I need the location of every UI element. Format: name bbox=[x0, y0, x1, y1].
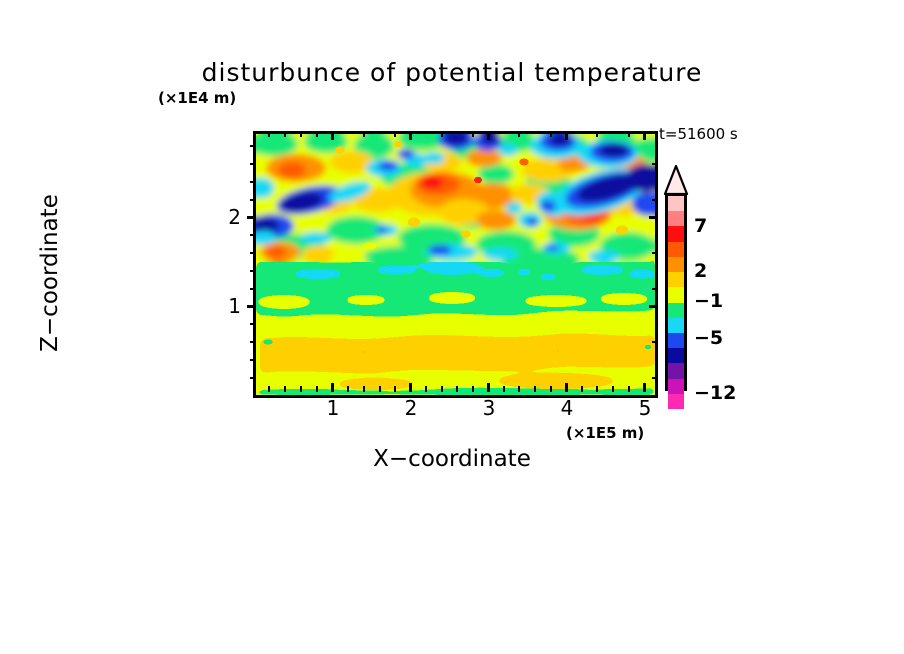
colorbar-band bbox=[668, 318, 684, 333]
y-axis-label: Z−coordinate bbox=[37, 123, 63, 423]
y-tick-minor bbox=[250, 270, 256, 272]
y-tick-minor bbox=[250, 288, 256, 290]
y-tick-minor bbox=[250, 145, 256, 147]
colorbar-label: 2 bbox=[694, 260, 707, 282]
x-tick-minor bbox=[347, 386, 349, 392]
contour-plot-frame bbox=[253, 131, 658, 398]
x-tick-major-top bbox=[331, 131, 334, 140]
y-tick-minor bbox=[250, 163, 256, 165]
colorbar-band bbox=[668, 226, 684, 241]
x-tick-label: 4 bbox=[547, 396, 587, 420]
y-tick-label: 1 bbox=[201, 294, 241, 318]
colorbar-top-arrow bbox=[663, 165, 689, 195]
x-tick-minor bbox=[394, 386, 396, 392]
x-tick-minor-top bbox=[596, 131, 598, 137]
x-axis-label: X−coordinate bbox=[0, 446, 904, 472]
x-tick-minor-top bbox=[628, 131, 630, 137]
x-tick-minor-top bbox=[284, 131, 286, 137]
contour-field bbox=[256, 134, 655, 395]
colorbar-label: −12 bbox=[694, 382, 736, 404]
colorbar bbox=[665, 193, 687, 391]
y-tick-minor bbox=[250, 252, 256, 254]
x-tick-minor bbox=[596, 386, 598, 392]
x-tick-minor-top bbox=[316, 131, 318, 137]
x-tick-minor bbox=[268, 386, 270, 392]
x-tick-minor-top bbox=[300, 131, 302, 137]
x-tick-minor bbox=[472, 386, 474, 392]
y-tick-major bbox=[247, 216, 256, 219]
page-title: disturbunce of potential temperature bbox=[0, 58, 904, 87]
x-tick-minor bbox=[612, 386, 614, 392]
x-axis-unit-label: (×1E5 m) bbox=[566, 424, 644, 442]
colorbar-label: −5 bbox=[694, 327, 723, 349]
y-tick-minor bbox=[250, 341, 256, 343]
x-tick-major bbox=[487, 383, 490, 392]
colorbar-band bbox=[668, 287, 684, 302]
x-tick-major bbox=[331, 383, 334, 392]
y-tick-minor-right bbox=[652, 163, 658, 165]
colorbar-band bbox=[668, 303, 684, 318]
x-tick-minor bbox=[441, 386, 443, 392]
y-tick-minor-right bbox=[652, 377, 658, 379]
y-tick-minor bbox=[250, 199, 256, 201]
x-tick-major bbox=[409, 383, 412, 392]
colorbar-band bbox=[668, 242, 684, 257]
x-tick-minor-top bbox=[472, 131, 474, 137]
x-tick-minor bbox=[518, 386, 520, 392]
x-tick-minor-top bbox=[394, 131, 396, 137]
x-tick-minor bbox=[425, 386, 427, 392]
x-tick-minor bbox=[581, 386, 583, 392]
y-tick-major bbox=[247, 305, 256, 308]
x-tick-major-top bbox=[643, 131, 646, 140]
y-tick-minor-right bbox=[652, 252, 658, 254]
x-tick-minor bbox=[316, 386, 318, 392]
x-tick-minor-top bbox=[518, 131, 520, 137]
x-tick-label: 1 bbox=[313, 396, 353, 420]
x-tick-major-top bbox=[409, 131, 412, 140]
colorbar-band bbox=[668, 363, 684, 378]
time-annotation: t=51600 s bbox=[659, 125, 738, 143]
y-tick-minor bbox=[250, 181, 256, 183]
x-tick-minor-top bbox=[268, 131, 270, 137]
x-tick-minor-top bbox=[550, 131, 552, 137]
x-tick-major-top bbox=[565, 131, 568, 140]
colorbar-label: 7 bbox=[694, 215, 707, 237]
y-tick-minor-right bbox=[652, 341, 658, 343]
x-tick-major-top bbox=[487, 131, 490, 140]
x-tick-minor bbox=[363, 386, 365, 392]
x-tick-minor bbox=[379, 386, 381, 392]
x-tick-major bbox=[643, 383, 646, 392]
colorbar-label: −1 bbox=[694, 290, 723, 312]
x-tick-minor-top bbox=[363, 131, 365, 137]
x-tick-minor bbox=[284, 386, 286, 392]
x-tick-minor bbox=[628, 386, 630, 392]
y-tick-major-right bbox=[649, 216, 658, 219]
colorbar-band bbox=[668, 394, 684, 409]
colorbar-band bbox=[668, 272, 684, 287]
y-tick-major-right bbox=[649, 305, 658, 308]
y-tick-minor bbox=[250, 359, 256, 361]
x-tick-label: 5 bbox=[625, 396, 665, 420]
colorbar-band bbox=[668, 348, 684, 363]
x-tick-major bbox=[565, 383, 568, 392]
x-tick-minor bbox=[550, 386, 552, 392]
colorbar-band bbox=[668, 333, 684, 348]
y-tick-label: 2 bbox=[201, 205, 241, 229]
y-tick-minor bbox=[250, 377, 256, 379]
x-tick-minor-top bbox=[441, 131, 443, 137]
y-tick-minor bbox=[250, 234, 256, 236]
colorbar-band bbox=[668, 257, 684, 272]
x-tick-minor bbox=[300, 386, 302, 392]
colorbar-band bbox=[668, 196, 684, 211]
x-tick-minor bbox=[456, 386, 458, 392]
y-axis-unit-label: (×1E4 m) bbox=[158, 89, 236, 107]
x-tick-label: 3 bbox=[469, 396, 509, 420]
y-tick-minor-right bbox=[652, 199, 658, 201]
y-tick-minor bbox=[250, 323, 256, 325]
colorbar-band bbox=[668, 211, 684, 226]
x-tick-minor bbox=[534, 386, 536, 392]
colorbar-band bbox=[668, 379, 684, 394]
y-tick-minor-right bbox=[652, 288, 658, 290]
x-tick-label: 2 bbox=[391, 396, 431, 420]
x-tick-minor bbox=[503, 386, 505, 392]
